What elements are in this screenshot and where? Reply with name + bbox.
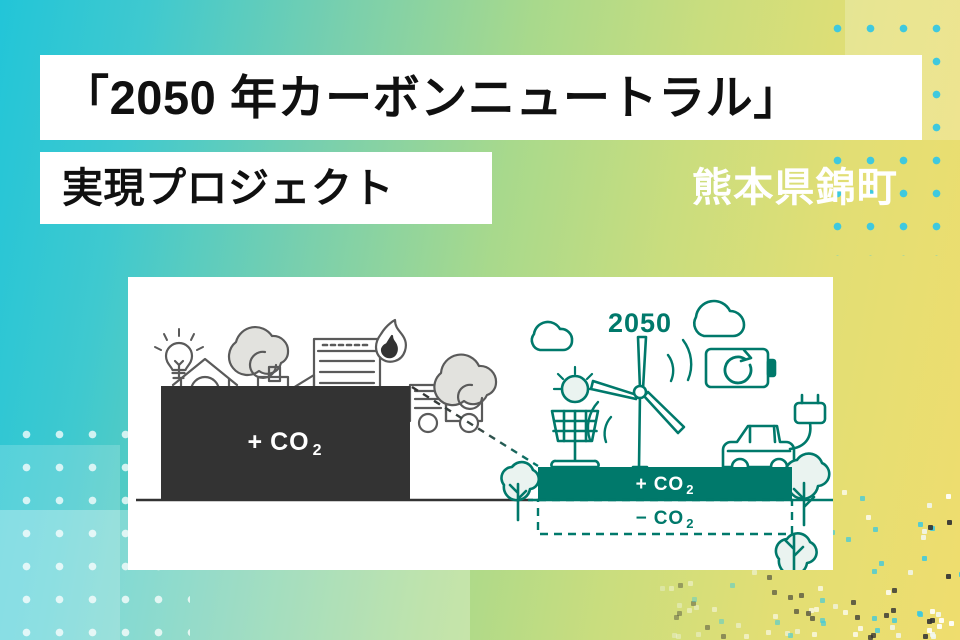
- future-emit-text: CO: [654, 474, 685, 495]
- confetti-speck: [936, 612, 941, 617]
- flame-icon: [376, 320, 406, 362]
- confetti-speck: [820, 598, 825, 603]
- confetti-speck: [696, 632, 701, 637]
- confetti-speck: [851, 600, 856, 605]
- confetti-speck: [946, 494, 951, 499]
- confetti-speck: [860, 496, 865, 501]
- confetti-speck: [820, 618, 825, 623]
- confetti-speck: [873, 527, 878, 532]
- confetti-speck: [922, 556, 927, 561]
- confetti-speck: [930, 526, 935, 531]
- confetti-speck: [922, 529, 927, 534]
- confetti-speck: [846, 537, 851, 542]
- rechargeable-battery-icon: [706, 349, 775, 387]
- present-co2-sign: +: [247, 428, 263, 456]
- confetti-speck: [677, 611, 682, 616]
- confetti-speck: [814, 607, 819, 612]
- confetti-speck: [677, 603, 682, 608]
- smoke-cloud-icon: [434, 355, 496, 409]
- confetti-speck: [799, 593, 804, 598]
- confetti-speck: [884, 613, 889, 618]
- confetti-speck: [843, 610, 848, 615]
- confetti-speck: [872, 569, 877, 574]
- confetti-speck: [923, 634, 928, 639]
- confetti-speck: [818, 586, 823, 591]
- confetti-speck: [795, 629, 800, 634]
- confetti-speck: [692, 597, 697, 602]
- confetti-speck: [918, 612, 923, 617]
- confetti-speck: [896, 633, 901, 638]
- confetti-speck: [879, 561, 884, 566]
- future-emit-sign: +: [636, 474, 648, 495]
- confetti-speck: [694, 605, 699, 610]
- confetti-speck: [917, 611, 922, 616]
- confetti-speck: [810, 616, 815, 621]
- confetti-speck: [674, 615, 679, 620]
- confetti-speck: [669, 586, 674, 591]
- confetti-speck: [939, 618, 944, 623]
- carbon-neutral-diagram: +CO2: [128, 277, 833, 570]
- present-co2-text: CO: [270, 428, 310, 456]
- future-absorb-sign: −: [636, 508, 648, 529]
- cloud-icon: [694, 301, 744, 336]
- confetti-speck: [890, 625, 895, 630]
- confetti-speck: [719, 619, 724, 624]
- tree-icon: [776, 533, 817, 570]
- confetti-speck: [875, 628, 880, 633]
- confetti-speck: [785, 631, 790, 636]
- confetti-speck: [806, 611, 811, 616]
- confetti-speck: [853, 632, 858, 637]
- confetti-speck: [688, 581, 693, 586]
- confetti-speck: [730, 583, 735, 588]
- confetti-speck: [868, 635, 873, 640]
- confetti-speck: [676, 634, 681, 639]
- confetti-speck: [858, 626, 863, 631]
- confetti-speck: [886, 590, 891, 595]
- confetti-speck: [947, 520, 952, 525]
- confetti-speck: [927, 619, 932, 624]
- confetti-speck: [946, 574, 951, 579]
- confetti-speck: [927, 503, 932, 508]
- confetti-speck: [927, 628, 932, 633]
- page-subtitle: 実現プロジェクト: [62, 168, 394, 209]
- confetti-speck: [842, 490, 847, 495]
- confetti-speck: [772, 590, 777, 595]
- confetti-speck: [721, 634, 726, 639]
- future-absorb-text: CO: [654, 508, 685, 529]
- present-co2-sub: 2: [313, 442, 323, 459]
- confetti-speck: [930, 618, 935, 623]
- confetti-speck: [812, 632, 817, 637]
- confetti-speck: [937, 624, 942, 629]
- confetti-speck: [687, 608, 692, 613]
- confetti-speck: [918, 522, 923, 527]
- confetti-speck: [752, 570, 757, 575]
- confetti-speck: [788, 633, 793, 638]
- future-absorption-label: −CO2: [636, 508, 695, 531]
- confetti-speck: [794, 609, 799, 614]
- banner-root: 「2050 年カーボンニュートラル」 実現プロジェクト 熊本県錦町: [0, 0, 960, 640]
- confetti-speck: [833, 604, 838, 609]
- confetti-speck: [866, 515, 871, 520]
- confetti-speck: [660, 586, 665, 591]
- confetti-speck: [855, 615, 860, 620]
- region-label: 熊本県錦町: [692, 160, 898, 216]
- confetti-speck: [891, 608, 896, 613]
- confetti-speck: [809, 608, 814, 613]
- future-absorb-sub: 2: [686, 516, 694, 531]
- confetti-speck: [871, 633, 876, 638]
- confetti-speck: [921, 535, 926, 540]
- cloud-icon: [532, 322, 572, 350]
- confetti-speck: [892, 588, 897, 593]
- lightbulb-icon: [155, 329, 203, 378]
- confetti-speck: [712, 607, 717, 612]
- title-plate: 「2050 年カーボンニュートラル」: [40, 55, 922, 140]
- wind-turbine-icon: [588, 337, 691, 467]
- confetti-speck: [678, 583, 683, 588]
- confetti-speck: [930, 609, 935, 614]
- confetti-speck: [872, 616, 877, 621]
- year-label: 2050: [608, 308, 672, 338]
- confetti-speck: [931, 634, 936, 639]
- confetti-speck: [705, 625, 710, 630]
- confetti-speck: [775, 620, 780, 625]
- confetti-speck: [773, 614, 778, 619]
- confetti-speck: [892, 618, 897, 623]
- illustration-card: +CO2: [128, 277, 833, 570]
- confetti-speck: [949, 621, 954, 626]
- decorative-square-bottom-left-2: [0, 445, 120, 640]
- confetti-speck: [744, 634, 749, 639]
- confetti-speck: [821, 621, 826, 626]
- confetti-speck: [767, 575, 772, 580]
- confetti-speck: [766, 630, 771, 635]
- confetti-speck: [908, 570, 913, 575]
- confetti-speck: [691, 601, 696, 606]
- confetti-speck: [930, 632, 935, 637]
- confetti-speck: [736, 623, 741, 628]
- confetti-speck: [672, 633, 677, 638]
- page-title: 「2050 年カーボンニュートラル」: [62, 74, 801, 121]
- future-emit-sub: 2: [686, 482, 694, 497]
- confetti-speck: [928, 525, 933, 530]
- subtitle-plate: 実現プロジェクト: [40, 152, 492, 224]
- confetti-speck: [788, 595, 793, 600]
- tree-icon: [501, 462, 538, 520]
